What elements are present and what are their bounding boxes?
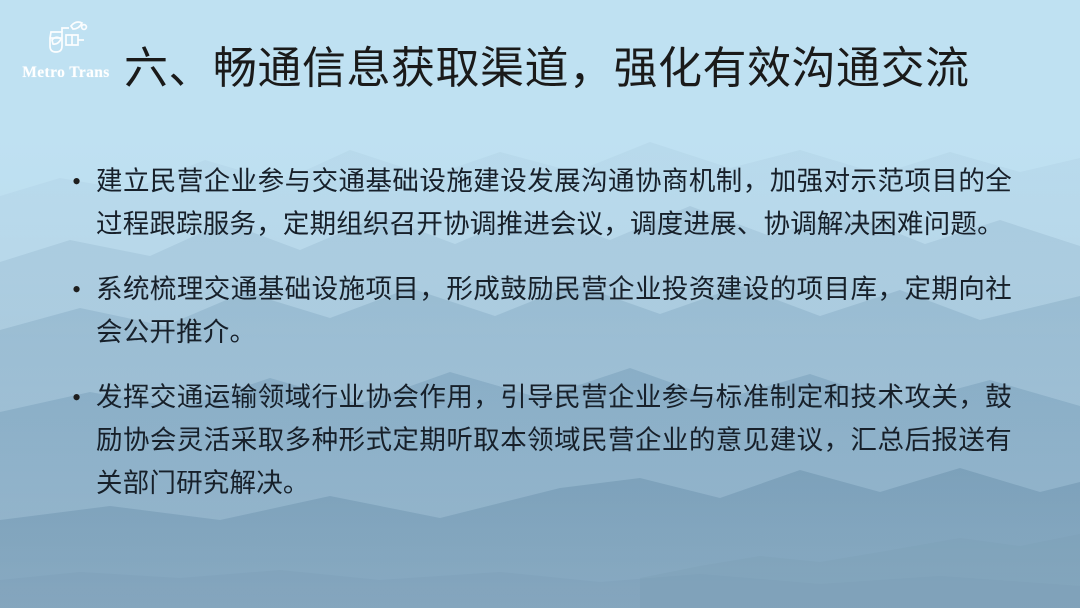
bullet-text: 发挥交通运输领域行业协会作用，引导民营企业参与标准制定和技术攻关，鼓励协会灵活采…: [96, 376, 1012, 505]
bullet-item: • 系统梳理交通基础设施项目，形成鼓励民营企业投资建设的项目库，定期向社会公开推…: [72, 268, 1012, 354]
bullet-text: 建立民营企业参与交通基础设施建设发展沟通协商机制，加强对示范项目的全过程跟踪服务…: [96, 160, 1012, 246]
logo-wordmark: Metro Trans: [14, 65, 118, 81]
bullet-item: • 建立民营企业参与交通基础设施建设发展沟通协商机制，加强对示范项目的全过程跟踪…: [72, 160, 1012, 246]
slide-title: 六、畅通信息获取渠道，强化有效沟通交流: [124, 46, 1070, 92]
bullet-marker-icon: •: [72, 376, 96, 419]
bullet-marker-icon: •: [72, 268, 96, 311]
slide-body: • 建立民营企业参与交通基础设施建设发展沟通协商机制，加强对示范项目的全过程跟踪…: [72, 160, 1012, 505]
brand-logo: Metro Trans: [14, 18, 118, 81]
metro-trans-mark-icon: [38, 18, 94, 64]
bullet-item: • 发挥交通运输领域行业协会作用，引导民营企业参与标准制定和技术攻关，鼓励协会灵…: [72, 376, 1012, 505]
bullet-marker-icon: •: [72, 160, 96, 203]
bullet-text: 系统梳理交通基础设施项目，形成鼓励民营企业投资建设的项目库，定期向社会公开推介。: [96, 268, 1012, 354]
presentation-slide: Metro Trans 六、畅通信息获取渠道，强化有效沟通交流 • 建立民营企业…: [0, 0, 1080, 608]
